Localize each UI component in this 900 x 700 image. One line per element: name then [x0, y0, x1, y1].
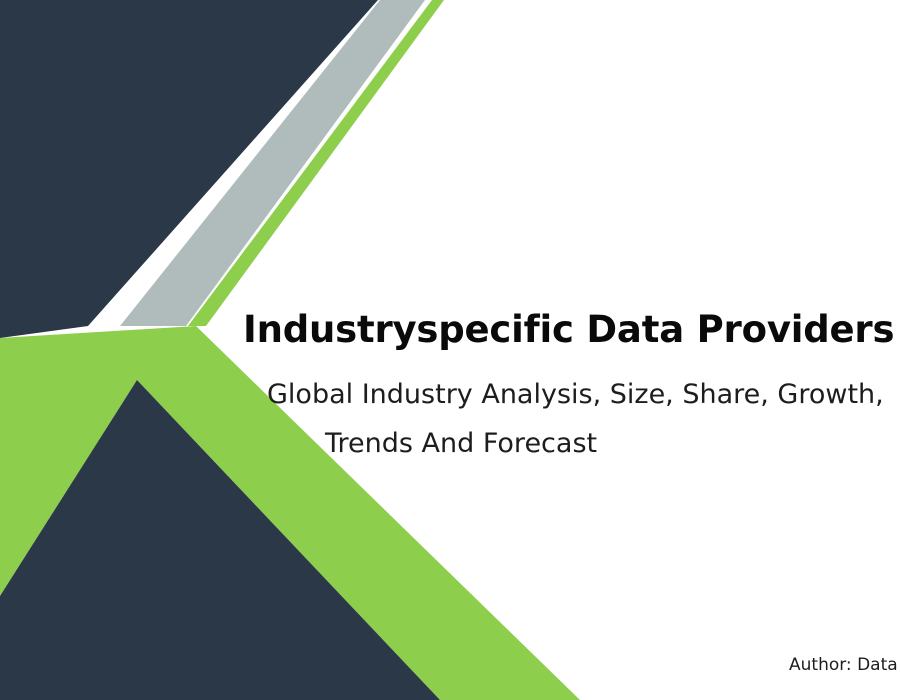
author-byline: Author: Data — [789, 654, 898, 676]
page-title: Industryspecific Data Providers — [243, 308, 900, 352]
report-cover-slide: Industryspecific Data Providers Global I… — [0, 0, 900, 700]
subtitle-line-1: Global Industry Analysis, Size, Share, G… — [267, 366, 900, 424]
subtitle-line-2: Trends And Forecast — [325, 424, 597, 464]
cover-text-layer: Industryspecific Data Providers Global I… — [0, 0, 900, 700]
